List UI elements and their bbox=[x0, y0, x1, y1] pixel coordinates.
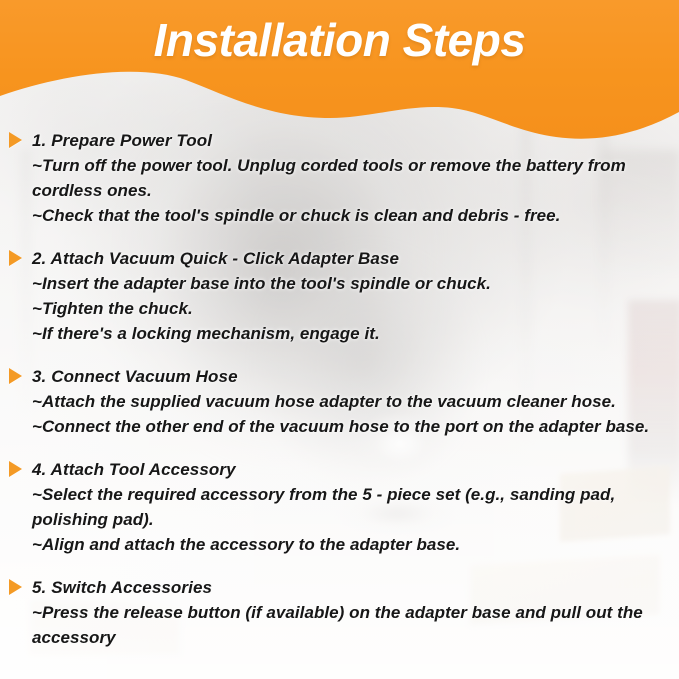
step-detail-line: ~Select the required accessory from the … bbox=[32, 482, 679, 532]
step-item: 3. Connect Vacuum Hose~Attach the suppli… bbox=[0, 364, 679, 439]
step-title: 5. Switch Accessories bbox=[32, 575, 679, 600]
step-detail-line: ~Insert the adapter base into the tool's… bbox=[32, 271, 679, 296]
triangle-right-icon bbox=[9, 461, 22, 477]
triangle-right-icon bbox=[9, 132, 22, 148]
step-detail-line: ~Press the release button (if available)… bbox=[32, 600, 679, 650]
step-item: 2. Attach Vacuum Quick - Click Adapter B… bbox=[0, 246, 679, 346]
step-item: 1. Prepare Power Tool~Turn off the power… bbox=[0, 128, 679, 228]
step-item: 4. Attach Tool Accessory~Select the requ… bbox=[0, 457, 679, 557]
step-title: 4. Attach Tool Accessory bbox=[32, 457, 679, 482]
step-title: 2. Attach Vacuum Quick - Click Adapter B… bbox=[32, 246, 679, 271]
triangle-right-icon bbox=[9, 250, 22, 266]
step-item: 5. Switch Accessories~Press the release … bbox=[0, 575, 679, 650]
step-detail-line: ~Turn off the power tool. Unplug corded … bbox=[32, 153, 679, 203]
step-title: 1. Prepare Power Tool bbox=[32, 128, 679, 153]
step-detail-line: ~Align and attach the accessory to the a… bbox=[32, 532, 679, 557]
triangle-right-icon bbox=[9, 368, 22, 384]
step-detail-line: ~If there's a locking mechanism, engage … bbox=[32, 321, 679, 346]
step-detail-line: ~Tighten the chuck. bbox=[32, 296, 679, 321]
installation-steps-infographic: Installation Steps 1. Prepare Power Tool… bbox=[0, 0, 679, 679]
step-detail-line: ~Check that the tool's spindle or chuck … bbox=[32, 203, 679, 228]
steps-list: 1. Prepare Power Tool~Turn off the power… bbox=[0, 128, 679, 668]
step-detail-line: ~Connect the other end of the vacuum hos… bbox=[32, 414, 679, 439]
page-title: Installation Steps bbox=[0, 13, 679, 67]
step-detail-line: ~Attach the supplied vacuum hose adapter… bbox=[32, 389, 679, 414]
step-title: 3. Connect Vacuum Hose bbox=[32, 364, 679, 389]
triangle-right-icon bbox=[9, 579, 22, 595]
